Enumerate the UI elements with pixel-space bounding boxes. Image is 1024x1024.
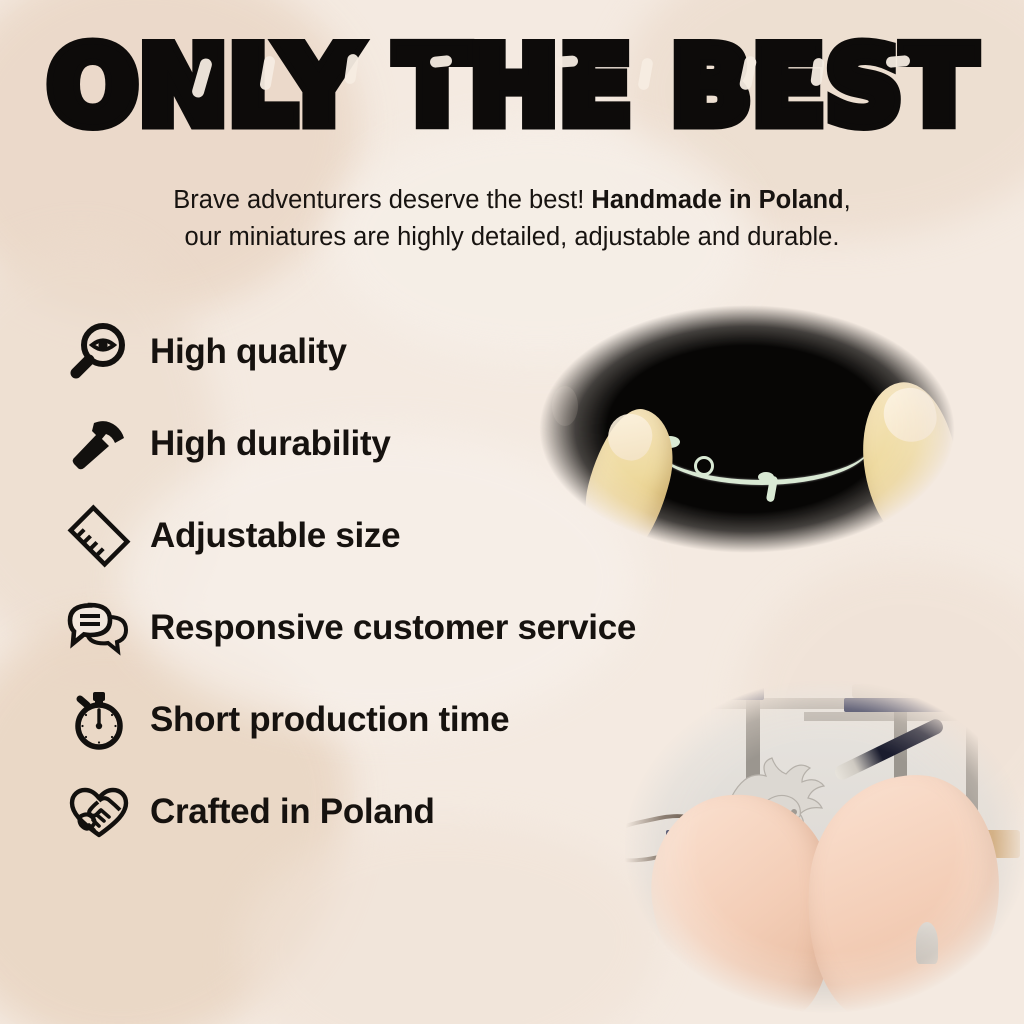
promo-canvas: ONLY THE BEST Brave adventurers deserve … — [0, 0, 1024, 1024]
photo-edge-speck — [910, 328, 944, 356]
subtitle-line1-suffix: , — [844, 186, 851, 214]
shelf-label — [694, 672, 732, 684]
subtitle-line2: our miniatures are highly detailed, adju… — [185, 223, 840, 251]
subtitle-highlight: Handmade in Poland — [591, 186, 843, 214]
feature-label: High durability — [150, 424, 391, 464]
page-title: ONLY THE BEST — [0, 34, 1024, 140]
subtitle-line1: Brave adventurers deserve the best! Hand… — [173, 186, 850, 214]
feature-label: High quality — [150, 332, 347, 372]
photo-edge-speck — [530, 338, 564, 364]
photo-edge-speck — [812, 298, 858, 318]
photo-torn-mask — [594, 654, 1024, 1024]
speech-bubbles-icon — [62, 591, 136, 665]
small-miniature — [916, 922, 938, 964]
photo-edge-speck — [608, 304, 648, 326]
handshake-heart-icon — [62, 775, 136, 849]
parts-tray — [690, 684, 764, 700]
photo-edge-speck — [552, 386, 578, 426]
shelf-clutter — [852, 684, 962, 698]
stopwatch-icon — [62, 683, 136, 757]
feature-label: Adjustable size — [150, 516, 400, 556]
workshop-painting-photo — [594, 654, 1024, 1024]
parts-tray — [844, 698, 974, 712]
headline-gloss — [556, 55, 579, 68]
part-loop — [694, 456, 714, 476]
subtitle: Brave adventurers deserve the best! Hand… — [0, 182, 1024, 256]
ruler-icon — [62, 499, 136, 573]
feature-label: Crafted in Poland — [150, 792, 435, 832]
flexible-miniature-part-photo — [512, 276, 982, 582]
magnifier-eye-icon — [62, 315, 136, 389]
hammer-icon — [62, 407, 136, 481]
feature-label: Short production time — [150, 700, 509, 740]
feature-label: Responsive customer service — [150, 608, 636, 648]
shelf-board — [804, 712, 1024, 721]
subtitle-line1-prefix: Brave adventurers deserve the best! — [173, 186, 591, 214]
photo-torn-mask — [512, 276, 982, 582]
